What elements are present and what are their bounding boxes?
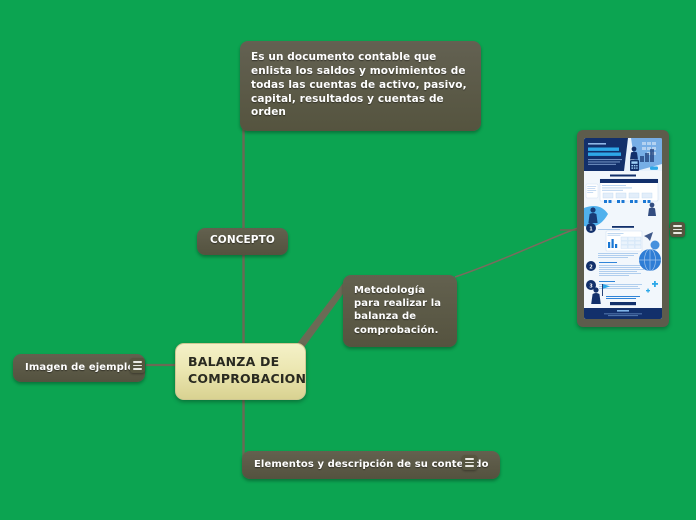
list-lines-icon[interactable] [130, 358, 145, 373]
node-elementos-y-descripcion[interactable]: Elementos y descripción de su contenido [242, 451, 500, 479]
node-descripcion[interactable]: Es un documento contable que enlista los… [240, 41, 481, 131]
list-lines-icon[interactable] [670, 222, 685, 237]
infographic-balanza-de-comprobacion[interactable]: 1 2 3 [584, 138, 662, 319]
svg-text:1: 1 [589, 227, 593, 233]
svg-text:2: 2 [589, 265, 593, 271]
infographic-artwork: 1 2 3 [584, 138, 662, 319]
list-lines-icon[interactable] [462, 455, 477, 470]
icon-line [673, 225, 682, 227]
icon-line [133, 361, 142, 363]
node-imagen-de-ejemplo[interactable]: Imagen de ejemplo [13, 354, 145, 382]
node-concepto[interactable]: CONCEPTO [197, 228, 288, 255]
icon-line [465, 462, 474, 464]
attached-image-frame[interactable]: 1 2 3 [577, 130, 669, 327]
connector-metodologia-image [455, 228, 578, 277]
mindmap-canvas[interactable]: Es un documento contable que enlista los… [0, 0, 696, 520]
node-root-balanza-de-comprobacion[interactable]: BALANZA DE COMPROBACION [175, 343, 306, 400]
icon-line [673, 232, 682, 234]
icon-line [465, 465, 474, 467]
icon-line [133, 368, 142, 370]
icon-line [465, 458, 474, 460]
icon-line [673, 229, 682, 231]
svg-text:3: 3 [589, 284, 593, 290]
icon-line [133, 365, 142, 367]
node-metodologia[interactable]: Metodología para realizar la balanza de … [343, 275, 457, 347]
